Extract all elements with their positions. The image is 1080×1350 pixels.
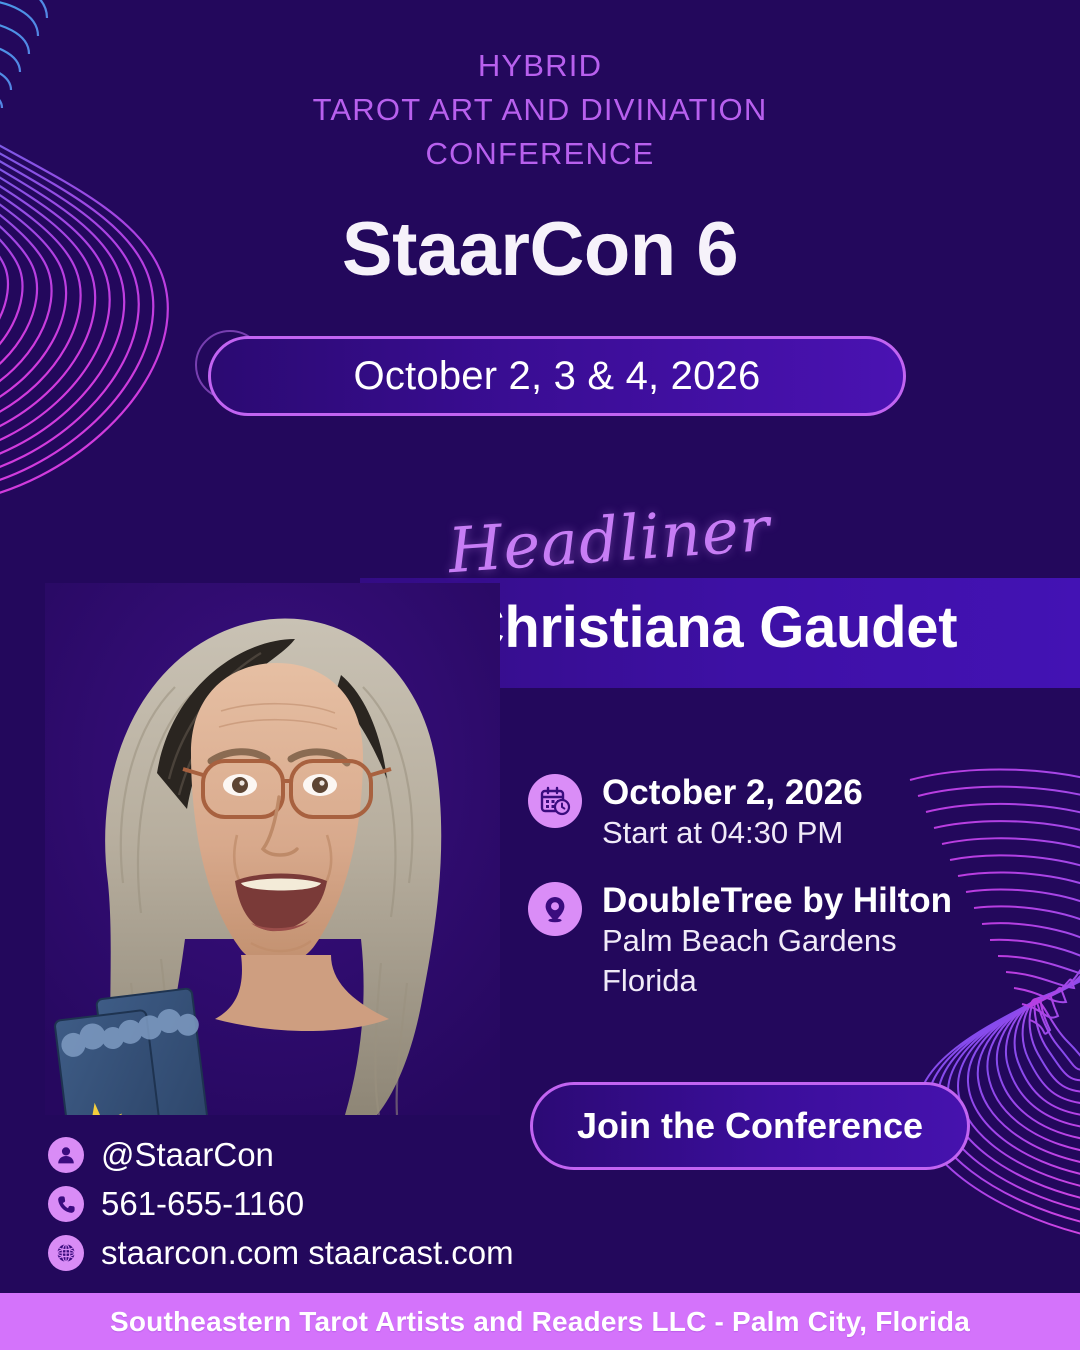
headliner-script-label: Headliner bbox=[446, 492, 773, 587]
event-date-pill[interactable]: October 2, 3 & 4, 2026 bbox=[208, 336, 906, 416]
eyebrow-line-1: HYBRID bbox=[0, 44, 1080, 88]
footer-bar: Southeastern Tarot Artists and Readers L… bbox=[0, 1293, 1080, 1350]
detail-text-date: October 2, 2026 Start at 04:30 PM bbox=[602, 772, 863, 854]
detail-row-venue: DoubleTree by Hilton Palm Beach Gardens … bbox=[528, 880, 998, 1002]
detail-text-venue: DoubleTree by Hilton Palm Beach Gardens … bbox=[602, 880, 952, 1002]
speaker-photo bbox=[45, 583, 500, 1115]
contact-handle: @StaarCon bbox=[101, 1136, 274, 1174]
phone-icon bbox=[48, 1186, 84, 1222]
eyebrow-text: HYBRID TAROT ART AND DIVINATION CONFEREN… bbox=[0, 44, 1080, 176]
page-title: StaarCon 6 bbox=[0, 206, 1080, 293]
detail-sub-state: Florida bbox=[602, 961, 952, 1001]
eyebrow-line-3: CONFERENCE bbox=[0, 132, 1080, 176]
detail-row-date: October 2, 2026 Start at 04:30 PM bbox=[528, 772, 998, 854]
calendar-clock-icon bbox=[528, 774, 582, 828]
person-icon bbox=[48, 1137, 84, 1173]
contact-row-phone[interactable]: 561-655-1160 bbox=[48, 1185, 514, 1223]
contact-websites: staarcon.com staarcast.com bbox=[101, 1234, 514, 1272]
contact-row-handle[interactable]: @StaarCon bbox=[48, 1136, 514, 1174]
contact-row-website[interactable]: staarcon.com staarcast.com bbox=[48, 1234, 514, 1272]
join-conference-button[interactable]: Join the Conference bbox=[530, 1082, 970, 1170]
location-pin-icon bbox=[528, 882, 582, 936]
event-date-label: October 2, 3 & 4, 2026 bbox=[354, 354, 761, 399]
detail-title-date: October 2, 2026 bbox=[602, 772, 863, 813]
event-flyer: HYBRID TAROT ART AND DIVINATION CONFEREN… bbox=[0, 0, 1080, 1350]
globe-icon bbox=[48, 1235, 84, 1271]
event-details: October 2, 2026 Start at 04:30 PM Double… bbox=[528, 772, 998, 1027]
eyebrow-line-2: TAROT ART AND DIVINATION bbox=[0, 88, 1080, 132]
contact-info: @StaarCon 561-655-1160 bbox=[48, 1136, 514, 1283]
detail-sub-time: Start at 04:30 PM bbox=[602, 813, 863, 853]
speaker-portrait-illustration bbox=[45, 583, 500, 1115]
contact-phone: 561-655-1160 bbox=[101, 1185, 304, 1223]
join-conference-label: Join the Conference bbox=[577, 1105, 923, 1147]
footer-text: Southeastern Tarot Artists and Readers L… bbox=[110, 1306, 970, 1338]
detail-title-venue: DoubleTree by Hilton bbox=[602, 880, 952, 921]
detail-sub-city: Palm Beach Gardens bbox=[602, 921, 952, 961]
